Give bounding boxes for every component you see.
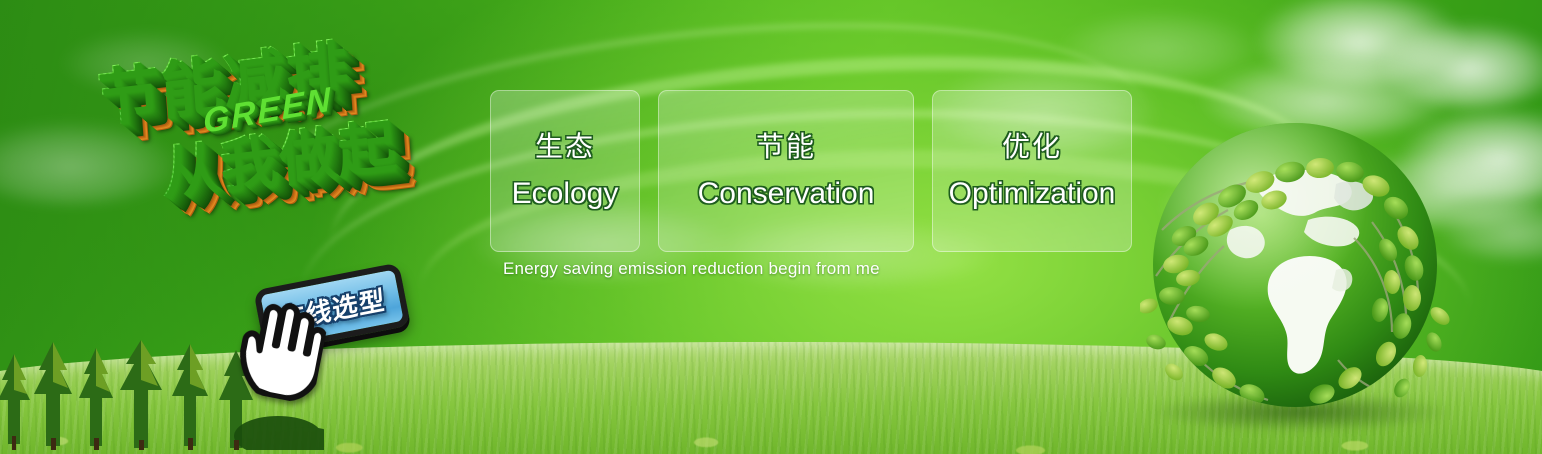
feature-card-list: 生态 Ecology 节能 Conservation 优化 Optimizati…	[490, 90, 1132, 252]
eco-hero-banner: 节能减排 从我做起 GREEN 在线选型 生态 Ecology 节能 Conse…	[0, 0, 1542, 454]
feature-card-cn-label: 节能	[756, 133, 816, 161]
feature-card-cn-label: 优化	[1002, 133, 1062, 161]
feature-card-en-label: Conservation	[698, 179, 875, 209]
feature-card-en-label: Optimization	[949, 179, 1116, 209]
ivy-globe-illustration	[1140, 110, 1450, 420]
headline-line-2: 从我做起	[159, 116, 397, 203]
feature-card-conservation[interactable]: 节能 Conservation	[658, 90, 914, 252]
feature-card-ecology[interactable]: 生态 Ecology	[490, 90, 640, 252]
feature-card-en-label: Ecology	[512, 179, 619, 209]
banner-tagline: Energy saving emission reduction begin f…	[503, 259, 880, 279]
hand-pointer-icon	[228, 295, 331, 406]
feature-card-optimization[interactable]: 优化 Optimization	[932, 90, 1132, 252]
feature-card-cn-label: 生态	[535, 133, 595, 161]
headline-artwork: 节能减排 从我做起 GREEN	[87, 13, 513, 300]
